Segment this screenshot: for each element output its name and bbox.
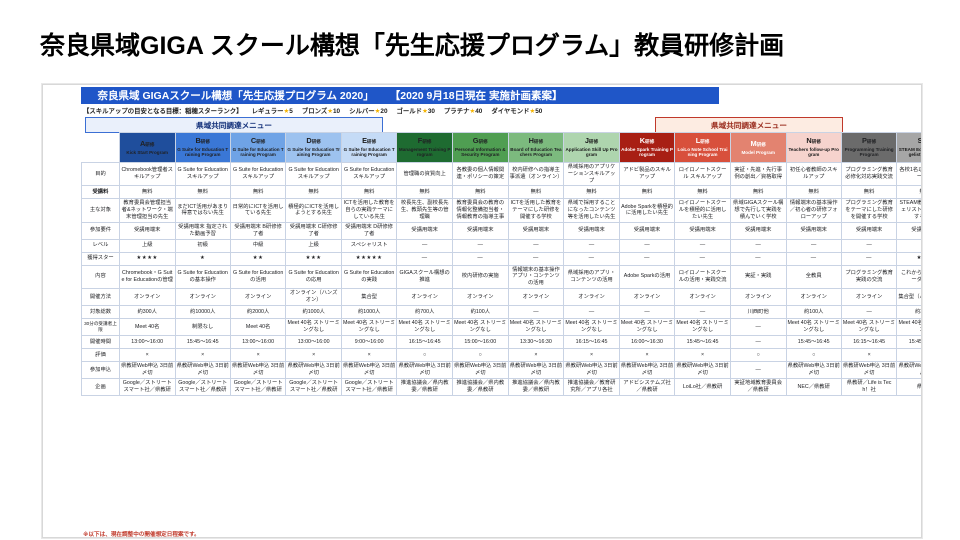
cell-stars-a[interactable]: ★★★★ xyxy=(119,252,175,265)
cell-stars-s[interactable]: ★★★ xyxy=(897,252,922,265)
schedule-session-f1[interactable]: F1 xyxy=(374,538,432,539)
cell-plan-j[interactable]: 推進協議会／教育研究所／アプリ各社 xyxy=(564,378,620,395)
cell-purpose-j[interactable]: 県域採用のアプリケーションスキルアップ xyxy=(564,163,620,186)
schedule-session-j1[interactable]: J1 xyxy=(547,538,605,539)
cell-limit-c[interactable]: Meet 40名 xyxy=(230,318,285,335)
cell-stars-b[interactable]: ★ xyxy=(175,252,230,265)
cell-total-c[interactable]: 約2000人 xyxy=(230,305,285,318)
column-en-name: Adobe Spark Training Program xyxy=(621,147,673,158)
column-code: L研修 xyxy=(676,137,729,145)
cell-fee-d[interactable]: 無料 xyxy=(286,186,342,199)
cell-method-e[interactable]: 集合型 xyxy=(341,288,396,305)
cell-eval-e[interactable]: × xyxy=(341,348,396,361)
cell-apply-c[interactable]: 県教研Web申込 3日前〆切 xyxy=(230,361,285,378)
cell-content-d[interactable]: G Suite for Education の応用 xyxy=(286,265,342,288)
table-row: 企画Google／ストリートスマート社／県教研Google／ストリートスマート社… xyxy=(82,378,923,395)
table-row: 開催時間13:00〜16:0015:45〜16:4513:00〜16:0013:… xyxy=(82,335,923,348)
star-rank-value: 50 xyxy=(535,108,542,115)
cell-plan-m[interactable]: 実証地域教育委員会／県教研 xyxy=(730,378,786,395)
cell-requirement-c[interactable]: 受講用端末 B研修修了者 xyxy=(230,222,285,239)
cell-method-a[interactable]: オンライン xyxy=(119,288,175,305)
table-row: レベル上級初級中級上級スペシャリスト―――――――――― xyxy=(82,239,923,252)
cell-plan-a[interactable]: Google／ストリートスマート社／県教研 xyxy=(119,378,175,395)
cell-fee-n[interactable]: 無料 xyxy=(786,186,841,199)
cell-level-s[interactable]: ― xyxy=(897,239,922,252)
cell-target-j[interactable]: 県域で採用することになったコンテンツ等を活用したい先生 xyxy=(564,199,620,222)
cell-target-d[interactable]: 積極的にICTを活用しようとする先生 xyxy=(286,199,342,222)
cell-fee-b[interactable]: 無料 xyxy=(175,186,230,199)
cell-fee-m[interactable]: 無料 xyxy=(730,186,786,199)
cell-requirement-k[interactable]: 受講用端末 xyxy=(619,222,674,239)
column-code: H研修 xyxy=(510,137,563,145)
cell-apply-b[interactable]: 県教研Web申込 3日前〆切 xyxy=(175,361,230,378)
cell-content-g[interactable]: 校内研修の実施 xyxy=(452,265,508,288)
cell-apply-e[interactable]: 県教研Web申込 3日前〆切 xyxy=(341,361,396,378)
cell-time-n[interactable]: 15:45〜16:45 xyxy=(786,335,841,348)
cell-total-m[interactable]: 川西町他 xyxy=(730,305,786,318)
cell-plan-l[interactable]: LoiLo社／県教研 xyxy=(675,378,731,395)
cell-stars-f[interactable]: ― xyxy=(397,252,453,265)
cell-fee-l[interactable]: 無料 xyxy=(675,186,731,199)
cell-content-m[interactable]: 実証・実践 xyxy=(730,265,786,288)
cell-requirement-b[interactable]: 受講用端末 指定された動画予習 xyxy=(175,222,230,239)
cell-purpose-b[interactable]: G Suite for Education スキルアップ xyxy=(175,163,230,186)
cell-eval-g[interactable]: ○ xyxy=(452,348,508,361)
cell-requirement-n[interactable]: 受講用端末 xyxy=(786,222,841,239)
cell-plan-s[interactable]: 県教研 xyxy=(897,378,922,395)
star-rank-name: シルバー xyxy=(349,108,375,115)
cell-target-e[interactable]: ICTを活用した教育を自らの実践テーマにしている先生 xyxy=(341,199,396,222)
cell-level-j[interactable]: ― xyxy=(564,239,620,252)
cell-fee-k[interactable]: 無料 xyxy=(619,186,674,199)
cell-stars-p[interactable]: ― xyxy=(841,252,896,265)
cell-total-n[interactable]: 約100人 xyxy=(786,305,841,318)
cell-apply-j[interactable]: 県教研Web申込 3日前〆切 xyxy=(564,361,620,378)
cell-time-a[interactable]: 13:00〜16:00 xyxy=(119,335,175,348)
cell-requirement-m[interactable]: 受講用端末 xyxy=(730,222,786,239)
cell-plan-n[interactable]: NEC／県教研 xyxy=(786,378,841,395)
star-rank-item: ブロンズ★10 xyxy=(302,108,340,115)
cell-level-g[interactable]: ― xyxy=(452,239,508,252)
cell-total-s[interactable]: 約350人 xyxy=(897,305,922,318)
cell-level-h[interactable]: ― xyxy=(508,239,564,252)
cell-eval-n[interactable]: ○ xyxy=(786,348,841,361)
cell-method-d[interactable]: オンライン（ハンズオン） xyxy=(286,288,342,305)
cell-requirement-d[interactable]: 受講用端末 C研修修了者 xyxy=(286,222,342,239)
schedule-session-k1[interactable]: K1 xyxy=(605,538,663,539)
cell-time-s[interactable]: 15:45〜16:45 xyxy=(897,335,922,348)
cell-total-f[interactable]: 約700人 xyxy=(397,305,453,318)
cell-stars-l[interactable]: ― xyxy=(675,252,731,265)
schedule-session-n1-1[interactable]: N1-1 xyxy=(779,538,837,539)
schedule-session-s1[interactable]: S1 xyxy=(895,538,922,539)
cell-limit-p[interactable]: Meet 40名 ストリーミングなし xyxy=(841,318,896,335)
cell-time-e[interactable]: 9:00〜16:00 xyxy=(341,335,396,348)
cell-requirement-h[interactable]: 受講用端末 xyxy=(508,222,564,239)
sheet-title-left: 奈良県域 GIGAスクール構想「先生応援プログラム 2020」 xyxy=(98,88,374,103)
table-row: 受講料無料無料無料無料無料無料無料無料無料無料無料無料無料無料無料 xyxy=(82,186,923,199)
cell-method-f[interactable]: オンライン xyxy=(397,288,453,305)
cell-purpose-c[interactable]: G Suite for Education スキルアップ xyxy=(230,163,285,186)
cell-time-f[interactable]: 16:15〜16:45 xyxy=(397,335,453,348)
cell-apply-m[interactable]: ― xyxy=(730,361,786,378)
column-header-k[interactable]: K研修Adobe Spark Training Program xyxy=(619,133,674,163)
schedule-session-b1[interactable]: B1 xyxy=(143,538,201,539)
column-code: K研修 xyxy=(621,137,673,145)
cell-limit-m[interactable]: ― xyxy=(730,318,786,335)
cell-purpose-f[interactable]: 管理職の資質向上 xyxy=(397,163,453,186)
cell-purpose-d[interactable]: G Suite for Education スキルアップ xyxy=(286,163,342,186)
cell-limit-a[interactable]: Meet 40名 xyxy=(119,318,175,335)
cell-apply-l[interactable]: 県教研Web申込 3日前〆切 xyxy=(675,361,731,378)
group-band-left: 県域共同調達メニュー xyxy=(85,117,383,133)
column-header-f[interactable]: F研修Management Training Program xyxy=(397,133,453,163)
cell-content-f[interactable]: GIGAスクール構想の推進 xyxy=(397,265,453,288)
schedule-session-p1[interactable]: P1 xyxy=(837,538,895,539)
cell-limit-g[interactable]: Meet 40名 ストリーミングなし xyxy=(452,318,508,335)
column-en-name: Management Training Program xyxy=(398,147,451,158)
cell-plan-p[interactable]: 県教研／Life is Tech！社 xyxy=(841,378,896,395)
cell-fee-f[interactable]: 無料 xyxy=(397,186,453,199)
cell-total-d[interactable]: 約1000人 xyxy=(286,305,342,318)
cell-stars-m[interactable]: ― xyxy=(730,252,786,265)
cell-requirement-l[interactable]: 受講用端末 xyxy=(675,222,731,239)
cell-purpose-g[interactable]: 各教委の個人情報関連・ポリシーの策定 xyxy=(452,163,508,186)
cell-target-s[interactable]: STEAM教育エバンジェリスト研修を受講する先生 xyxy=(897,199,922,222)
column-header-l[interactable]: L研修LoiLo Note School Training Program xyxy=(675,133,731,163)
cell-total-k[interactable]: ― xyxy=(619,305,674,318)
spreadsheet-content: 奈良県域 GIGAスクール構想「先生応援プログラム 2020」 【2020 9月… xyxy=(43,85,922,537)
cell-total-j[interactable]: ― xyxy=(564,305,620,318)
cell-apply-g[interactable]: 県教研Web申込 3日前〆切 xyxy=(452,361,508,378)
cell-method-p[interactable]: オンライン xyxy=(841,288,896,305)
cell-method-s[interactable]: 集合型（ハンズオン） xyxy=(897,288,922,305)
cell-plan-g[interactable]: 推進協議会／県内教委／県教研 xyxy=(452,378,508,395)
cell-eval-l[interactable]: × xyxy=(675,348,731,361)
cell-level-a[interactable]: 上級 xyxy=(119,239,175,252)
column-header-m[interactable]: M研修Model Program xyxy=(730,133,786,163)
cell-plan-c[interactable]: Google／ストリートスマート社／県教研 xyxy=(230,378,285,395)
cell-fee-e[interactable]: 無料 xyxy=(341,186,396,199)
cell-stars-c[interactable]: ★★ xyxy=(230,252,285,265)
schedule-session-d1[interactable]: D1 xyxy=(259,538,317,539)
cell-time-c[interactable]: 13:00〜16:00 xyxy=(230,335,285,348)
table-row: 目的Chromebook管理者スキルアップG Suite for Educati… xyxy=(82,163,923,186)
cell-level-p[interactable]: ― xyxy=(841,239,896,252)
cell-target-h[interactable]: ICTを活用した教育をテーマにした研修を開催する学校 xyxy=(508,199,564,222)
cell-total-e[interactable]: 約1000人 xyxy=(341,305,396,318)
cell-content-s[interactable]: これからの学校のリーダー育成 xyxy=(897,265,922,288)
cell-time-l[interactable]: 15:45〜16:45 xyxy=(675,335,731,348)
cell-target-f[interactable]: 校長先生、副校長先生、教頭先生等の管理職 xyxy=(397,199,453,222)
sheet-title-right: 【2020 9月18日現在 実施計画素案】 xyxy=(390,88,563,103)
training-plan-table: A研修Kick Start ProgramB研修G Suite for Educ… xyxy=(81,132,922,396)
cell-limit-e[interactable]: Meet 40名 ストリーミングなし xyxy=(341,318,396,335)
cell-purpose-k[interactable]: アドビ製品のスキルアップ xyxy=(619,163,674,186)
cell-level-c[interactable]: 中級 xyxy=(230,239,285,252)
cell-plan-k[interactable]: アドビシステムズ社／県教研 xyxy=(619,378,674,395)
cell-purpose-e[interactable]: G Suite for Education スキルアップ xyxy=(341,163,396,186)
cell-limit-n[interactable]: Meet 40名 ストリーミングなし xyxy=(786,318,841,335)
cell-content-b[interactable]: G Suite for Education の基本操作 xyxy=(175,265,230,288)
cell-stars-g[interactable]: ― xyxy=(452,252,508,265)
column-header-c[interactable]: C研修G Suite for Education Training Progra… xyxy=(230,133,285,163)
cell-total-l[interactable]: ― xyxy=(675,305,731,318)
cell-purpose-a[interactable]: Chromebook管理者スキルアップ xyxy=(119,163,175,186)
cell-method-c[interactable]: オンライン xyxy=(230,288,285,305)
cell-purpose-n[interactable]: 初任心者教師のスキルアップ xyxy=(786,163,841,186)
cell-eval-k[interactable]: × xyxy=(619,348,674,361)
cell-eval-h[interactable]: × xyxy=(508,348,564,361)
row-label: 目的 xyxy=(82,163,120,186)
cell-content-e[interactable]: G Suite for Education の実践 xyxy=(341,265,396,288)
cell-fee-h[interactable]: 無料 xyxy=(508,186,564,199)
table-row: 主な対象教育委員会管理担当者&ネットワーク・端末管理担当の先生まだICT活用があ… xyxy=(82,199,923,222)
star-rank-item: ゴールド★30 xyxy=(397,108,435,115)
column-en-name: Model Program xyxy=(732,150,785,155)
cell-plan-e[interactable]: Google／ストリートスマート社／県教研 xyxy=(341,378,396,395)
cell-content-h[interactable]: 情報端末の基本操作アプリ・コンテンツの活用 xyxy=(508,265,564,288)
cell-requirement-g[interactable]: 受講用端末 xyxy=(452,222,508,239)
schedule-id-row: A1B1C1D1E1F1G1H1J1K1L1M1N1-1P1S1 xyxy=(81,538,922,539)
cell-time-d[interactable]: 13:00〜16:00 xyxy=(286,335,342,348)
cell-limit-d[interactable]: Meet 40名 ストリーミングなし xyxy=(286,318,342,335)
cell-eval-s[interactable]: ○ xyxy=(897,348,922,361)
cell-eval-j[interactable]: × xyxy=(564,348,620,361)
column-header-e[interactable]: E研修G Suite for Education Training Progra… xyxy=(341,133,396,163)
cell-stars-e[interactable]: ★★★★★ xyxy=(341,252,396,265)
row-label: 獲得スター xyxy=(82,252,120,265)
cell-limit-h[interactable]: Meet 40名 ストリーミングなし xyxy=(508,318,564,335)
cell-method-h[interactable]: オンライン xyxy=(508,288,564,305)
cell-total-p[interactable]: ― xyxy=(841,305,896,318)
column-en-name: STEAM Education Evangelist Program xyxy=(898,147,922,158)
spreadsheet-panel[interactable]: 奈良県域 GIGAスクール構想「先生応援プログラム 2020」 【2020 9月… xyxy=(42,84,922,538)
cell-time-m[interactable]: ― xyxy=(730,335,786,348)
cell-limit-f[interactable]: Meet 40名 ストリーミングなし xyxy=(397,318,453,335)
cell-limit-b[interactable]: 制限なし xyxy=(175,318,230,335)
cell-eval-c[interactable]: × xyxy=(230,348,285,361)
column-code: B研修 xyxy=(177,137,229,145)
table-row: 対象総数約300人約10000人約2000人約1000人約1000人約700人約… xyxy=(82,305,923,318)
cell-apply-f[interactable]: 県教研Web申込 3日前〆切 xyxy=(397,361,453,378)
column-header-p[interactable]: P研修Programming Training Program xyxy=(841,133,896,163)
cell-stars-d[interactable]: ★★★ xyxy=(286,252,342,265)
row-label: 主な対象 xyxy=(82,199,120,222)
table-row: 評価×××××○○××××○○×○ xyxy=(82,348,923,361)
cell-method-m[interactable]: オンライン xyxy=(730,288,786,305)
cell-apply-n[interactable]: 県教研Web申込 3日前〆切 xyxy=(786,361,841,378)
cell-level-e[interactable]: スペシャリスト xyxy=(341,239,396,252)
cell-apply-s[interactable]: 県教研Web申込 3日前〆切 xyxy=(897,361,922,378)
column-header-s[interactable]: S研修STEAM Education Evangelist Program xyxy=(897,133,922,163)
cell-time-g[interactable]: 15:00〜16:00 xyxy=(452,335,508,348)
table-row: 開催方法オンラインオンラインオンラインオンライン（ハンズオン）集合型オンラインオ… xyxy=(82,288,923,305)
column-header-h[interactable]: H研修Board of Education Teachers Program xyxy=(508,133,564,163)
cell-plan-h[interactable]: 推進協議会／県内教委／県教研 xyxy=(508,378,564,395)
cell-limit-l[interactable]: Meet 40名 ストリーミングなし xyxy=(675,318,731,335)
schedule-session-g1[interactable]: G1 xyxy=(432,538,490,539)
cell-method-l[interactable]: オンライン xyxy=(675,288,731,305)
column-en-name: Teachers follow-up Program xyxy=(788,147,840,158)
star-rank-item: レギュラー★5 xyxy=(252,108,293,115)
column-header-n[interactable]: N研修Teachers follow-up Program xyxy=(786,133,841,163)
cell-target-c[interactable]: 日常的にICTを活用している先生 xyxy=(230,199,285,222)
cell-fee-j[interactable]: 無料 xyxy=(564,186,620,199)
table-row: 内容Chromebook・G Suite for Educationの管理G S… xyxy=(82,265,923,288)
cell-target-n[interactable]: 情報端末の基本操作／初心者の研修フォローアップ xyxy=(786,199,841,222)
cell-target-m[interactable]: 県域GIGAスクール構想で先行して実践を積んでいく学校 xyxy=(730,199,786,222)
cell-plan-b[interactable]: Google／ストリートスマート社／県教研 xyxy=(175,378,230,395)
cell-content-a[interactable]: Chromebook・G Suite for Educationの管理 xyxy=(119,265,175,288)
cell-method-b[interactable]: オンライン xyxy=(175,288,230,305)
cell-time-j[interactable]: 16:15〜16:45 xyxy=(564,335,620,348)
cell-content-l[interactable]: ロイロノートスクールの活用・実践交流 xyxy=(675,265,731,288)
cell-requirement-j[interactable]: 受講用端末 xyxy=(564,222,620,239)
column-header-g[interactable]: G研修Personal Information & Security Progr… xyxy=(452,133,508,163)
cell-content-j[interactable]: 県域採用のアプリ・コンテンツの活用 xyxy=(564,265,620,288)
cell-level-n[interactable]: ― xyxy=(786,239,841,252)
cell-time-k[interactable]: 16:00〜16:30 xyxy=(619,335,674,348)
cell-time-b[interactable]: 15:45〜16:45 xyxy=(175,335,230,348)
cell-limit-j[interactable]: Meet 40名 ストリーミングなし xyxy=(564,318,620,335)
cell-level-b[interactable]: 初級 xyxy=(175,239,230,252)
cell-purpose-l[interactable]: ロイロノートスクール スキルアップ xyxy=(675,163,731,186)
row-label: 対象総数 xyxy=(82,305,120,318)
cell-stars-j[interactable]: ― xyxy=(564,252,620,265)
schedule-session-a1[interactable]: A1 xyxy=(85,538,143,539)
cell-method-n[interactable]: オンライン xyxy=(786,288,841,305)
cell-stars-k[interactable]: ― xyxy=(619,252,674,265)
cell-content-n[interactable]: 全教員 xyxy=(786,265,841,288)
column-code: E研修 xyxy=(343,137,395,145)
cell-requirement-p[interactable]: 受講用端末 xyxy=(841,222,896,239)
star-rank-name: ダイヤモンド xyxy=(491,108,529,115)
schedule-session-e1[interactable]: E1 xyxy=(316,538,374,539)
star-rank-value: 30 xyxy=(428,108,435,115)
star-rank-name: レギュラー xyxy=(252,108,284,115)
cell-requirement-a[interactable]: 受講用端末 xyxy=(119,222,175,239)
cell-method-k[interactable]: オンライン xyxy=(619,288,674,305)
column-code: C研修 xyxy=(232,137,284,145)
column-header-d[interactable]: D研修G Suite for Education Training Progra… xyxy=(286,133,342,163)
row-label: 受講料 xyxy=(82,186,120,199)
row-label: 開催方法 xyxy=(82,288,120,305)
cell-target-l[interactable]: ロイロノートスクールを積極的に活用したい先生 xyxy=(675,199,731,222)
cell-requirement-f[interactable]: 受講用端末 xyxy=(397,222,453,239)
cell-fee-c[interactable]: 無料 xyxy=(230,186,285,199)
column-code: G研修 xyxy=(454,137,507,145)
cell-time-p[interactable]: 16:15〜16:45 xyxy=(841,335,896,348)
cell-method-j[interactable]: オンライン xyxy=(564,288,620,305)
row-label: 開催時間 xyxy=(82,335,120,348)
cell-total-a[interactable]: 約300人 xyxy=(119,305,175,318)
cell-apply-h[interactable]: 県教研Web申込 3日前〆切 xyxy=(508,361,564,378)
cell-content-p[interactable]: プログラミング教育実践の交流 xyxy=(841,265,896,288)
cell-fee-s[interactable]: 無料 xyxy=(897,186,922,199)
group-band-right: 県域共同調達メニュー xyxy=(655,117,843,133)
cell-requirement-e[interactable]: 受講用端末 D研修修了者 xyxy=(341,222,396,239)
cell-total-g[interactable]: 約100人 xyxy=(452,305,508,318)
column-code: P研修 xyxy=(843,137,895,145)
row-label: 参加要件 xyxy=(82,222,120,239)
cell-apply-a[interactable]: 県教研Web申込 3日前〆切 xyxy=(119,361,175,378)
title-bar-filler xyxy=(579,87,719,104)
cell-requirement-s[interactable]: 受講用端末 xyxy=(897,222,922,239)
cell-purpose-m[interactable]: 実証・先進・先行事例の創出／資格取得 xyxy=(730,163,786,186)
column-en-name: Kick Start Program xyxy=(121,150,174,155)
star-rank-legend: 【スキルアップの目安となる目標：稲穂スターランク】レギュラー★5ブロンズ★10シ… xyxy=(83,106,542,115)
column-en-name: G Suite for Education Training Program xyxy=(232,147,284,158)
cell-eval-p[interactable]: × xyxy=(841,348,896,361)
schedule-session-l1[interactable]: L1 xyxy=(663,538,721,539)
row-label: 企画 xyxy=(82,378,120,395)
column-header-b[interactable]: B研修G Suite for Education Training Progra… xyxy=(175,133,230,163)
cell-level-m[interactable]: ― xyxy=(730,239,786,252)
column-header-j[interactable]: J研修Application Skill Up Program xyxy=(564,133,620,163)
schedule-gutter xyxy=(81,538,85,539)
cell-plan-f[interactable]: 推進協議会／県内教委／県教研 xyxy=(397,378,453,395)
cell-fee-a[interactable]: 無料 xyxy=(119,186,175,199)
cell-target-b[interactable]: まだICT活用があまり得意ではない先生 xyxy=(175,199,230,222)
cell-apply-d[interactable]: 県教研Web申込 3日前〆切 xyxy=(286,361,342,378)
column-en-name: G Suite for Education Training Program xyxy=(177,147,229,158)
cell-eval-d[interactable]: × xyxy=(286,348,342,361)
cell-fee-g[interactable]: 無料 xyxy=(452,186,508,199)
cell-level-k[interactable]: ― xyxy=(619,239,674,252)
cell-stars-n[interactable]: ― xyxy=(786,252,841,265)
cell-eval-a[interactable]: × xyxy=(119,348,175,361)
cell-purpose-p[interactable]: プログラミング教育必修化対応実践交流 xyxy=(841,163,896,186)
cell-limit-k[interactable]: Meet 40名 ストリーミングなし xyxy=(619,318,674,335)
schedule-session-m1[interactable]: M1 xyxy=(720,538,779,539)
cell-purpose-s[interactable]: 各校1名以上のリーダー育成 xyxy=(897,163,922,186)
schedule-session-c1[interactable]: C1 xyxy=(201,538,259,539)
cell-eval-m[interactable]: ○ xyxy=(730,348,786,361)
table-header-row: A研修Kick Start ProgramB研修G Suite for Educ… xyxy=(82,133,923,163)
cell-total-h[interactable]: ― xyxy=(508,305,564,318)
column-code: M研修 xyxy=(732,140,785,148)
cell-limit-s[interactable]: Meet 40名 ストリーミング xyxy=(897,318,922,335)
cell-plan-d[interactable]: Google／ストリートスマート社／県教研 xyxy=(286,378,342,395)
cell-stars-h[interactable]: ― xyxy=(508,252,564,265)
cell-content-k[interactable]: Adobe Sparkの活用 xyxy=(619,265,674,288)
cell-total-b[interactable]: 約10000人 xyxy=(175,305,230,318)
cell-eval-b[interactable]: × xyxy=(175,348,230,361)
column-header-a[interactable]: A研修Kick Start Program xyxy=(119,133,175,163)
star-rank-value: 20 xyxy=(380,108,387,115)
sheet-title-bar: 奈良県域 GIGAスクール構想「先生応援プログラム 2020」 【2020 9月… xyxy=(81,87,579,104)
cell-apply-k[interactable]: 県教研Web申込 3日前〆切 xyxy=(619,361,674,378)
cell-fee-p[interactable]: 無料 xyxy=(841,186,896,199)
cell-eval-f[interactable]: ○ xyxy=(397,348,453,361)
cell-content-c[interactable]: G Suite for Education の活用 xyxy=(230,265,285,288)
cell-purpose-h[interactable]: 校内研修への指導主事派遣（オンライン） xyxy=(508,163,564,186)
cell-level-l[interactable]: ― xyxy=(675,239,731,252)
cell-time-h[interactable]: 13:30〜16:30 xyxy=(508,335,564,348)
star-rank-item: ダイヤモンド★50 xyxy=(491,108,542,115)
cell-target-p[interactable]: プログラミング教育をテーマにした研修を開催する学校 xyxy=(841,199,896,222)
cell-level-d[interactable]: 上級 xyxy=(286,239,342,252)
schedule-session-h1[interactable]: H1 xyxy=(490,538,548,539)
cell-target-a[interactable]: 教育委員会管理担当者&ネットワーク・端末管理担当の先生 xyxy=(119,199,175,222)
cell-target-g[interactable]: 教育委員会の教育の情報化整備担当者・情報教育の指導主事 xyxy=(452,199,508,222)
table-row: 獲得スター★★★★★★★★★★★★★★★―――――――――★★★ xyxy=(82,252,923,265)
cell-apply-p[interactable]: 県教研Web申込 3日前〆切 xyxy=(841,361,896,378)
cell-level-f[interactable]: ― xyxy=(397,239,453,252)
cell-method-g[interactable]: オンライン xyxy=(452,288,508,305)
cell-target-k[interactable]: Adobe Sparkを積極的に活用したい先生 xyxy=(619,199,674,222)
